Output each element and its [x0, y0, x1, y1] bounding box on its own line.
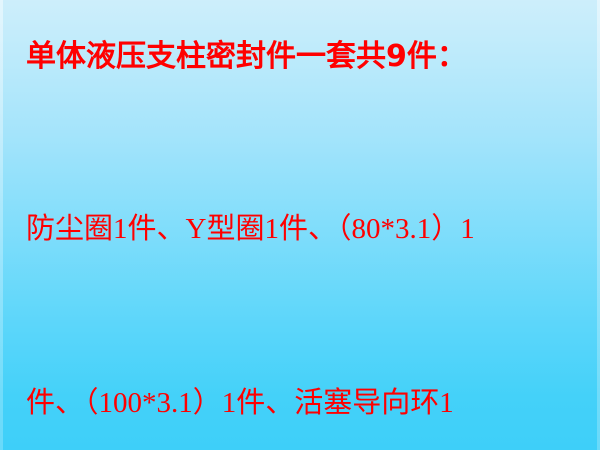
slide-text-block: 单体液压支柱密封件一套共9件： 防尘圈1件、Y型圈1件、（80*3.1）1 件、…	[26, 34, 582, 450]
presentation-slide: 单体液压支柱密封件一套共9件： 防尘圈1件、Y型圈1件、（80*3.1）1 件、…	[0, 0, 600, 450]
body-line: 防尘圈1件、Y型圈1件、（80*3.1）1	[26, 200, 582, 258]
body-line: 件、（100*3.1）1件、活塞导向环1	[26, 374, 582, 432]
slide-body-paragraph: 防尘圈1件、Y型圈1件、（80*3.1）1 件、（100*3.1）1件、活塞导向…	[26, 84, 582, 450]
slide-left-edge-highlight	[0, 0, 3, 450]
slide-title: 单体液压支柱密封件一套共9件：	[26, 34, 582, 80]
